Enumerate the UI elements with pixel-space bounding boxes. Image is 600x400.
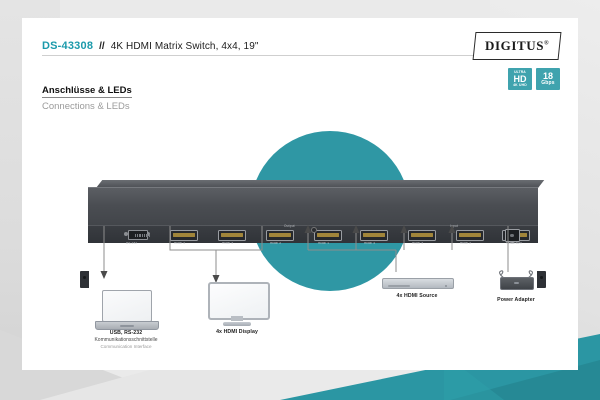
hdmi-output-port-1 [314,230,342,241]
hdmi-input-port-2 [456,230,484,241]
ultra-hd-badge: ULTRA HD 4K UHD [508,68,532,90]
db9-pins [135,234,150,237]
logo-registered-mark: ® [544,41,549,47]
monitor-screen [208,282,270,320]
db9-connector-body [128,230,148,240]
header-title-line: DS-43308 // 4K HDMI Matrix Switch, 4x4, … [42,40,522,56]
section-title-de: Anschlüsse & LEDs [42,85,132,98]
rs232-port-label: RS-232 [126,241,137,245]
logo-text: DIGITUS [485,38,544,53]
hdmi-output-port-2 [266,230,294,241]
feature-badges: ULTRA HD 4K UHD 18 Gbps [508,68,560,90]
hdmi-output-label-3: HDMI 3 [222,241,233,245]
callout-communication-interface: USB, RS-232 Kommunikationsschnittstelle … [66,290,186,349]
status-led [311,227,317,233]
header: DS-43308 // 4K HDMI Matrix Switch, 4x4, … [42,40,522,56]
section-heading: Anschlüsse & LEDs Connections & LEDs [42,80,132,112]
monitor-neck [231,316,243,321]
bandwidth-badge-bottom: Gbps [541,81,555,86]
rs232-port [124,230,150,238]
communication-interface-subtitle-en: Communication Interface [66,344,186,349]
rack-ear-left [80,271,89,288]
hdmi-output-label-2: HDMI 2 [270,241,281,245]
ultra-hd-badge-bottom: 4K UHD [513,84,527,87]
digitus-logo: DIGITUS® [473,32,562,60]
input-group-label: Input [450,224,458,228]
hdmi-input-label-3: HDMI 3 [412,241,423,245]
hdmi-input-label-4: HDMI 4 [364,241,375,245]
hdmi-output-label-1: HDMI 1 [318,241,329,245]
communication-interface-subtitle-de: Kommunikationsschnittstelle [66,337,186,343]
media-player-icon [382,276,452,289]
monitor-foot [223,322,251,326]
datasheet-page: DS-43308 // 4K HDMI Matrix Switch, 4x4, … [0,0,600,400]
dc-power-label: DC 12V [511,241,522,245]
callout-hdmi-display: 4x HDMI Display [187,282,287,335]
monitor-icon [208,282,266,326]
rack-ear-hole-left [83,276,86,279]
output-group-label: Output [284,224,295,228]
device-front-face [88,187,538,228]
section-title-en: Connections & LEDs [42,101,132,112]
laptop-screen [102,290,152,322]
hdmi-input-port-4 [360,230,388,241]
power-adapter-brick [500,277,534,290]
laptop-trackpad [120,325,134,327]
arrow-down-laptop [101,271,108,279]
hdmi-input-label-2: HDMI 2 [460,241,471,245]
device-rear-panel: Output Input RS-232 HDMI 4 HDMI 3 HDMI 2 [88,180,538,242]
media-player-indicator [445,285,447,287]
product-name: 4K HDMI Matrix Switch, 4x4, 19" [111,41,259,52]
hdmi-input-port-3 [408,230,436,241]
media-player-body [382,278,454,289]
laptop-icon [95,290,157,330]
laptop-base [95,321,159,330]
communication-interface-title: USB, RS-232 [66,330,186,336]
media-player-slot [388,285,410,287]
power-adapter-icon [490,268,542,294]
hdmi-output-label-4: HDMI 4 [174,241,185,245]
header-separator: // [99,41,105,52]
power-adapter-title: Power Adapter [456,297,576,303]
product-sku: DS-43308 [42,40,93,52]
bandwidth-badge: 18 Gbps [536,68,560,90]
hdmi-display-title: 4x HDMI Display [187,329,287,335]
hdmi-output-port-3 [218,230,246,241]
callout-power-adapter: Power Adapter [456,268,576,303]
hdmi-output-port-4 [170,230,198,241]
content-card: DS-43308 // 4K HDMI Matrix Switch, 4x4, … [22,18,578,370]
